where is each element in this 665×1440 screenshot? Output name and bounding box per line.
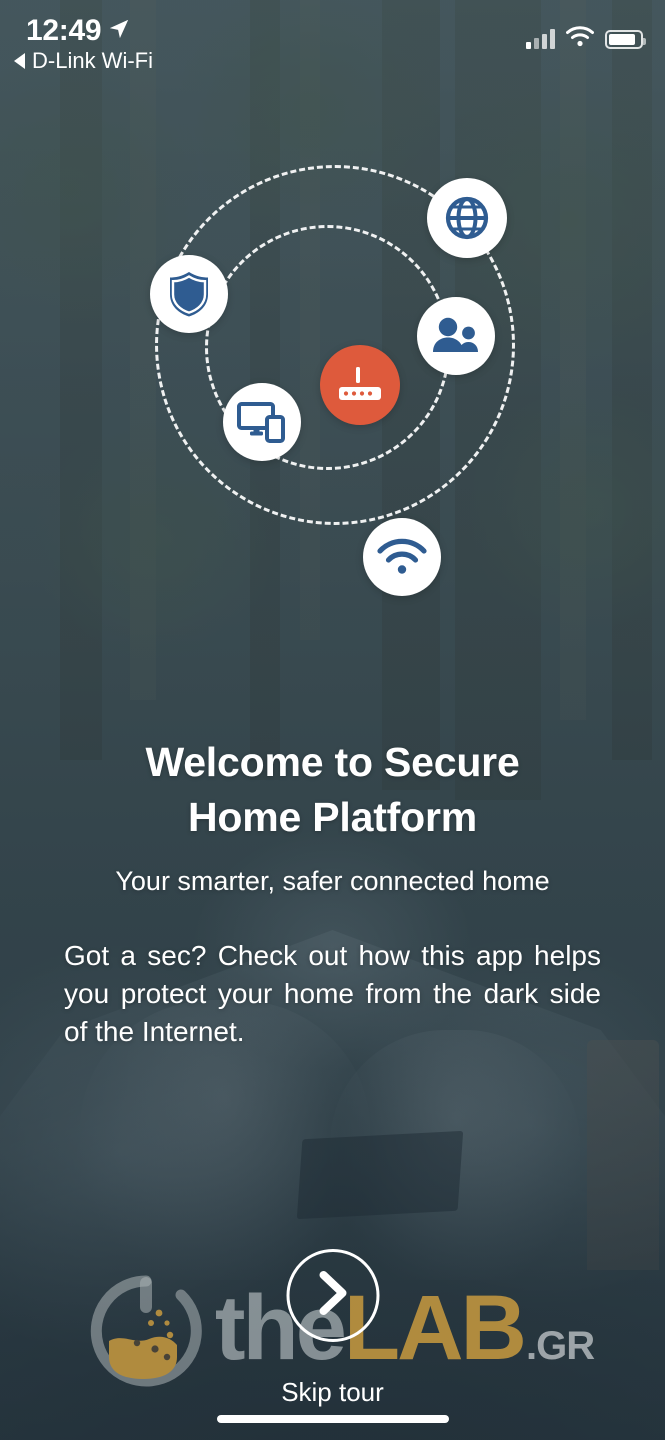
network-diagram: [0, 150, 665, 620]
skip-tour-button[interactable]: Skip tour: [0, 1377, 665, 1408]
app-screen: 12:49 D-Link Wi-Fi: [0, 0, 665, 1440]
onboarding-copy: Welcome to Secure Home Platform Your sma…: [0, 735, 665, 1050]
wifi-node[interactable]: [363, 518, 441, 596]
wifi-signal-icon: [377, 538, 427, 576]
status-indicators: [526, 26, 643, 52]
profiles-node[interactable]: [417, 297, 495, 375]
page-body-text: Got a sec? Check out how this app helps …: [0, 937, 665, 1050]
globe-icon: [443, 194, 491, 242]
router-icon: [338, 365, 382, 405]
location-arrow-icon: [108, 14, 130, 48]
status-time-group: 12:49: [26, 14, 130, 48]
status-bar: 12:49 D-Link Wi-Fi: [0, 0, 665, 86]
triangle-left-icon: [14, 53, 25, 69]
next-button[interactable]: [286, 1249, 379, 1342]
router-node[interactable]: [320, 345, 400, 425]
internet-node[interactable]: [427, 178, 507, 258]
home-indicator[interactable]: [217, 1415, 449, 1423]
title-line-1: Welcome to Secure: [55, 735, 610, 790]
title-line-2: Home Platform: [55, 790, 610, 845]
back-to-app-button[interactable]: D-Link Wi-Fi: [14, 48, 153, 74]
devices-node[interactable]: [223, 383, 301, 461]
status-time: 12:49: [26, 14, 101, 48]
devices-icon: [237, 401, 287, 443]
back-label: D-Link Wi-Fi: [32, 48, 153, 74]
page-title: Welcome to Secure Home Platform: [0, 735, 665, 844]
shield-icon: [167, 270, 211, 318]
security-node[interactable]: [150, 255, 228, 333]
battery-icon: [605, 30, 643, 49]
page-subtitle: Your smarter, safer connected home: [0, 866, 665, 897]
wifi-icon: [566, 26, 594, 52]
people-icon: [431, 316, 481, 356]
chevron-right-icon: [314, 1269, 352, 1322]
cellular-signal-icon: [526, 29, 555, 49]
